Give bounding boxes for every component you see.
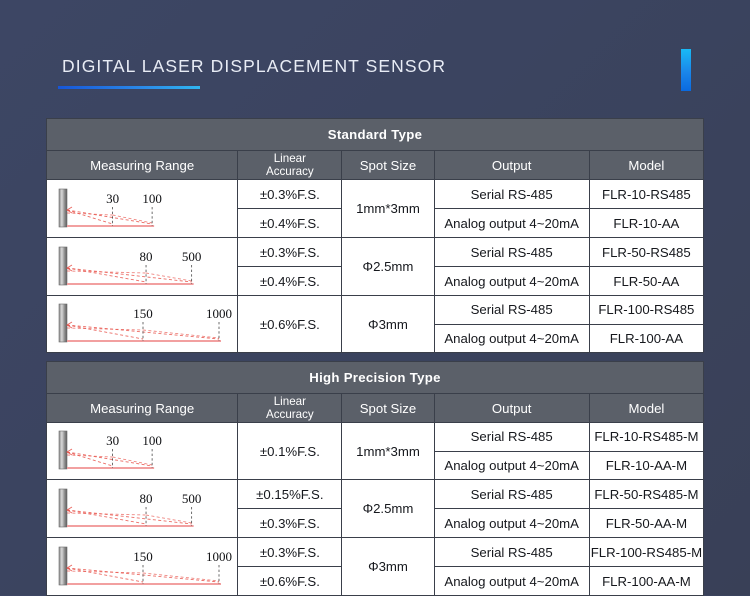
linear-accuracy-cell: ±0.3%F.S. [238,509,342,538]
model-cell: FLR-50-AA-M [589,509,703,538]
table-row: 80 500 ±0.3%F.S.Φ2.5mmSerial RS-485FLR-5… [47,238,704,267]
spot-size-cell: 1mm*3mm [342,423,434,480]
linear-accuracy-cell: ±0.6%F.S. [238,567,342,596]
table-title: Standard Type [47,119,704,151]
spec-table-standard: Standard Type Measuring Range LinearAccu… [46,118,704,353]
svg-text:80: 80 [140,249,153,264]
svg-text:1000: 1000 [206,549,232,564]
measuring-range-cell: 80 500 [47,480,238,538]
table-row: 150 1000 ±0.3%F.S.Φ3mmSerial RS-485FLR-1… [47,538,704,567]
svg-text:100: 100 [142,191,162,206]
linear-accuracy-cell: ±0.4%F.S. [238,209,342,238]
spec-table-high-precision: High Precision Type Measuring Range Line… [46,361,704,596]
range-diagram-svg: 30 100 [47,181,233,237]
output-cell: Serial RS-485 [434,538,589,567]
spec-table: High Precision Type Measuring Range Line… [46,361,704,596]
svg-text:150: 150 [133,306,153,321]
column-header-output: Output [434,394,589,423]
output-cell: Serial RS-485 [434,238,589,267]
svg-text:80: 80 [140,491,153,506]
model-cell: FLR-100-RS485-M [589,538,703,567]
model-cell: FLR-10-RS485 [589,180,703,209]
model-cell: FLR-10-RS485-M [589,423,703,452]
table-title-row: Standard Type [47,119,704,151]
table-title-row: High Precision Type [47,362,704,394]
output-cell: Serial RS-485 [434,480,589,509]
column-header-measuring-range: Measuring Range [47,151,238,180]
title-underline [58,86,200,89]
svg-text:100: 100 [142,433,162,448]
model-cell: FLR-50-AA [589,267,703,296]
linear-accuracy-cell: ±0.3%F.S. [238,538,342,567]
range-diagram-svg: 150 1000 [47,296,233,352]
measuring-range-cell: 150 1000 [47,296,238,353]
column-header-spot-size: Spot Size [342,394,434,423]
column-header-spot-size: Spot Size [342,151,434,180]
linear-accuracy-cell: ±0.6%F.S. [238,296,342,353]
column-header-row: Measuring Range LinearAccuracy Spot Size… [47,394,704,423]
output-cell: Serial RS-485 [434,180,589,209]
svg-text:500: 500 [182,249,202,264]
column-header-output: Output [434,151,589,180]
output-cell: Serial RS-485 [434,423,589,452]
column-header-model: Model [589,151,703,180]
output-cell: Analog output 4~20mA [434,509,589,538]
model-cell: FLR-100-AA [589,324,703,353]
page-title: DIGITAL LASER DISPLACEMENT SENSOR [62,56,446,77]
range-diagram-svg: 30 100 [47,423,233,479]
range-diagram-svg: 80 500 [47,481,233,537]
linear-accuracy-cell: ±0.15%F.S. [238,480,342,509]
output-cell: Analog output 4~20mA [434,324,589,353]
column-header-model: Model [589,394,703,423]
linear-accuracy-cell: ±0.4%F.S. [238,267,342,296]
model-cell: FLR-50-RS485 [589,238,703,267]
model-cell: FLR-100-AA-M [589,567,703,596]
svg-text:30: 30 [106,433,119,448]
table-row: 30 100 ±0.3%F.S.1mm*3mmSerial RS-485FLR-… [47,180,704,209]
table-row: 150 1000 ±0.6%F.S.Φ3mmSerial RS-485FLR-1… [47,296,704,325]
svg-text:150: 150 [133,549,153,564]
linear-accuracy-cell: ±0.3%F.S. [238,238,342,267]
model-cell: FLR-10-AA [589,209,703,238]
spot-size-cell: Φ3mm [342,538,434,596]
output-cell: Analog output 4~20mA [434,567,589,596]
linear-accuracy-cell: ±0.1%F.S. [238,423,342,480]
measuring-range-cell: 30 100 [47,423,238,480]
column-header-linear-accuracy: LinearAccuracy [238,151,342,180]
svg-text:500: 500 [182,491,202,506]
output-cell: Serial RS-485 [434,296,589,325]
output-cell: Analog output 4~20mA [434,209,589,238]
svg-text:1000: 1000 [206,306,232,321]
spot-size-cell: Φ2.5mm [342,238,434,296]
svg-text:30: 30 [106,191,119,206]
measuring-range-cell: 30 100 [47,180,238,238]
linear-accuracy-cell: ±0.3%F.S. [238,180,342,209]
model-cell: FLR-10-AA-M [589,451,703,480]
table-row: 30 100 ±0.1%F.S.1mm*3mmSerial RS-485FLR-… [47,423,704,452]
spot-size-cell: Φ2.5mm [342,480,434,538]
spec-table: Standard Type Measuring Range LinearAccu… [46,118,704,353]
output-cell: Analog output 4~20mA [434,451,589,480]
spot-size-cell: 1mm*3mm [342,180,434,238]
column-header-linear-accuracy: LinearAccuracy [238,394,342,423]
model-cell: FLR-100-RS485 [589,296,703,325]
model-cell: FLR-50-RS485-M [589,480,703,509]
output-cell: Analog output 4~20mA [434,267,589,296]
range-diagram-svg: 80 500 [47,239,233,295]
measuring-range-cell: 80 500 [47,238,238,296]
range-diagram-svg: 150 1000 [47,539,233,595]
accent-bar [681,49,691,91]
spot-size-cell: Φ3mm [342,296,434,353]
column-header-row: Measuring Range LinearAccuracy Spot Size… [47,151,704,180]
page-header: DIGITAL LASER DISPLACEMENT SENSOR [0,0,750,110]
table-row: 80 500 ±0.15%F.S.Φ2.5mmSerial RS-485FLR-… [47,480,704,509]
measuring-range-cell: 150 1000 [47,538,238,596]
column-header-measuring-range: Measuring Range [47,394,238,423]
table-title: High Precision Type [47,362,704,394]
